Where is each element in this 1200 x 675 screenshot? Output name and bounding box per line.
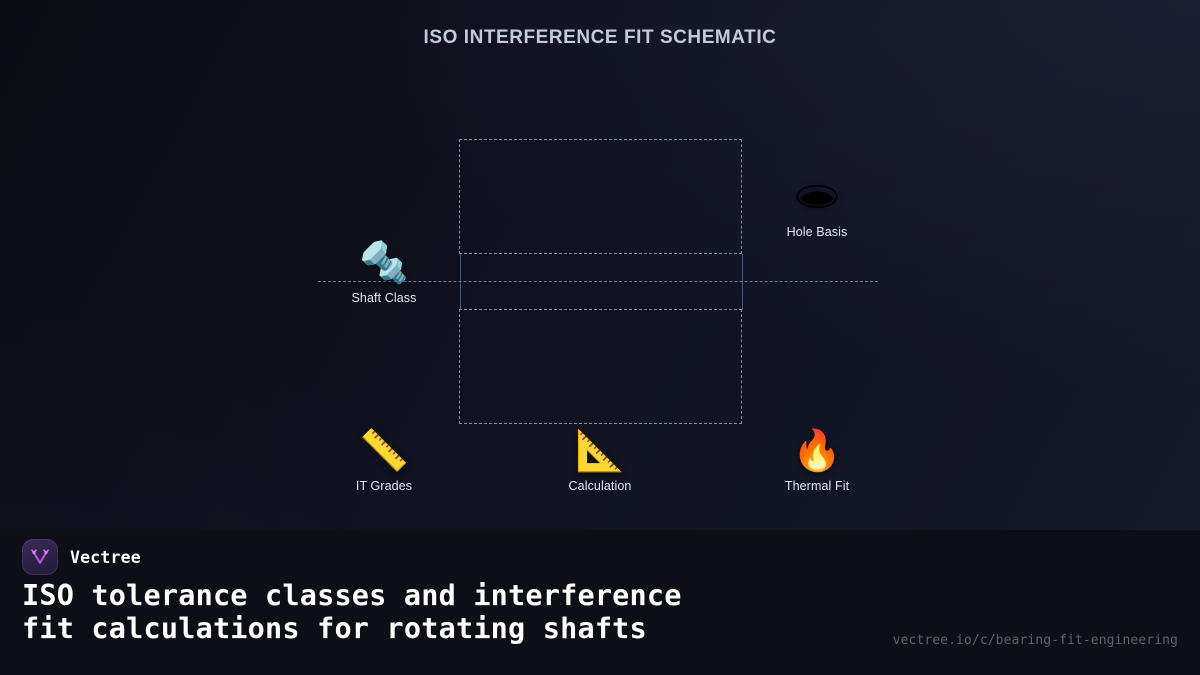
node-it-grades-label: IT Grades (309, 479, 459, 493)
fire-icon: 🔥 (742, 427, 892, 475)
schematic-canvas: ISO INTERFERENCE FIT SCHEMATIC 🔩 Shaft C… (0, 0, 1200, 675)
footer-caption: ISO tolerance classes and interference f… (22, 579, 867, 645)
triangular-ruler-icon: 📐 (525, 427, 675, 475)
right-connector-line (742, 254, 743, 310)
straight-ruler-icon: 📏 (309, 427, 459, 475)
lower-tolerance-zone-box (459, 309, 742, 424)
node-it-grades[interactable]: 📏 IT Grades (309, 427, 459, 493)
node-shaft-class-label: Shaft Class (309, 291, 459, 305)
brand-name: Vectree (70, 548, 141, 567)
vectree-logo-icon (22, 539, 58, 575)
node-calculation[interactable]: 📐 Calculation (525, 427, 675, 493)
schematic-drawing: 🔩 Shaft Class 🕳 Hole Basis 📏 IT Grades 📐… (0, 0, 1200, 530)
node-thermal-fit-label: Thermal Fit (742, 479, 892, 493)
brand[interactable]: Vectree (22, 539, 141, 575)
hole-icon: 🕳 (742, 173, 892, 221)
upper-tolerance-zone-box (459, 139, 742, 254)
node-thermal-fit[interactable]: 🔥 Thermal Fit (742, 427, 892, 493)
nut-and-bolt-icon: 🔩 (309, 239, 459, 287)
node-calculation-label: Calculation (525, 479, 675, 493)
footer-caption-line-2: fit calculations for rotating shafts (22, 612, 867, 645)
left-connector-line (460, 254, 461, 310)
footer-caption-line-1: ISO tolerance classes and interference (22, 579, 867, 612)
node-hole-basis-label: Hole Basis (742, 225, 892, 239)
node-hole-basis[interactable]: 🕳 Hole Basis (742, 173, 892, 239)
footer-bar: Vectree ISO tolerance classes and interf… (0, 530, 1200, 675)
node-shaft-class[interactable]: 🔩 Shaft Class (309, 239, 459, 305)
footer-url[interactable]: vectree.io/c/bearing-fit-engineering (893, 633, 1178, 648)
